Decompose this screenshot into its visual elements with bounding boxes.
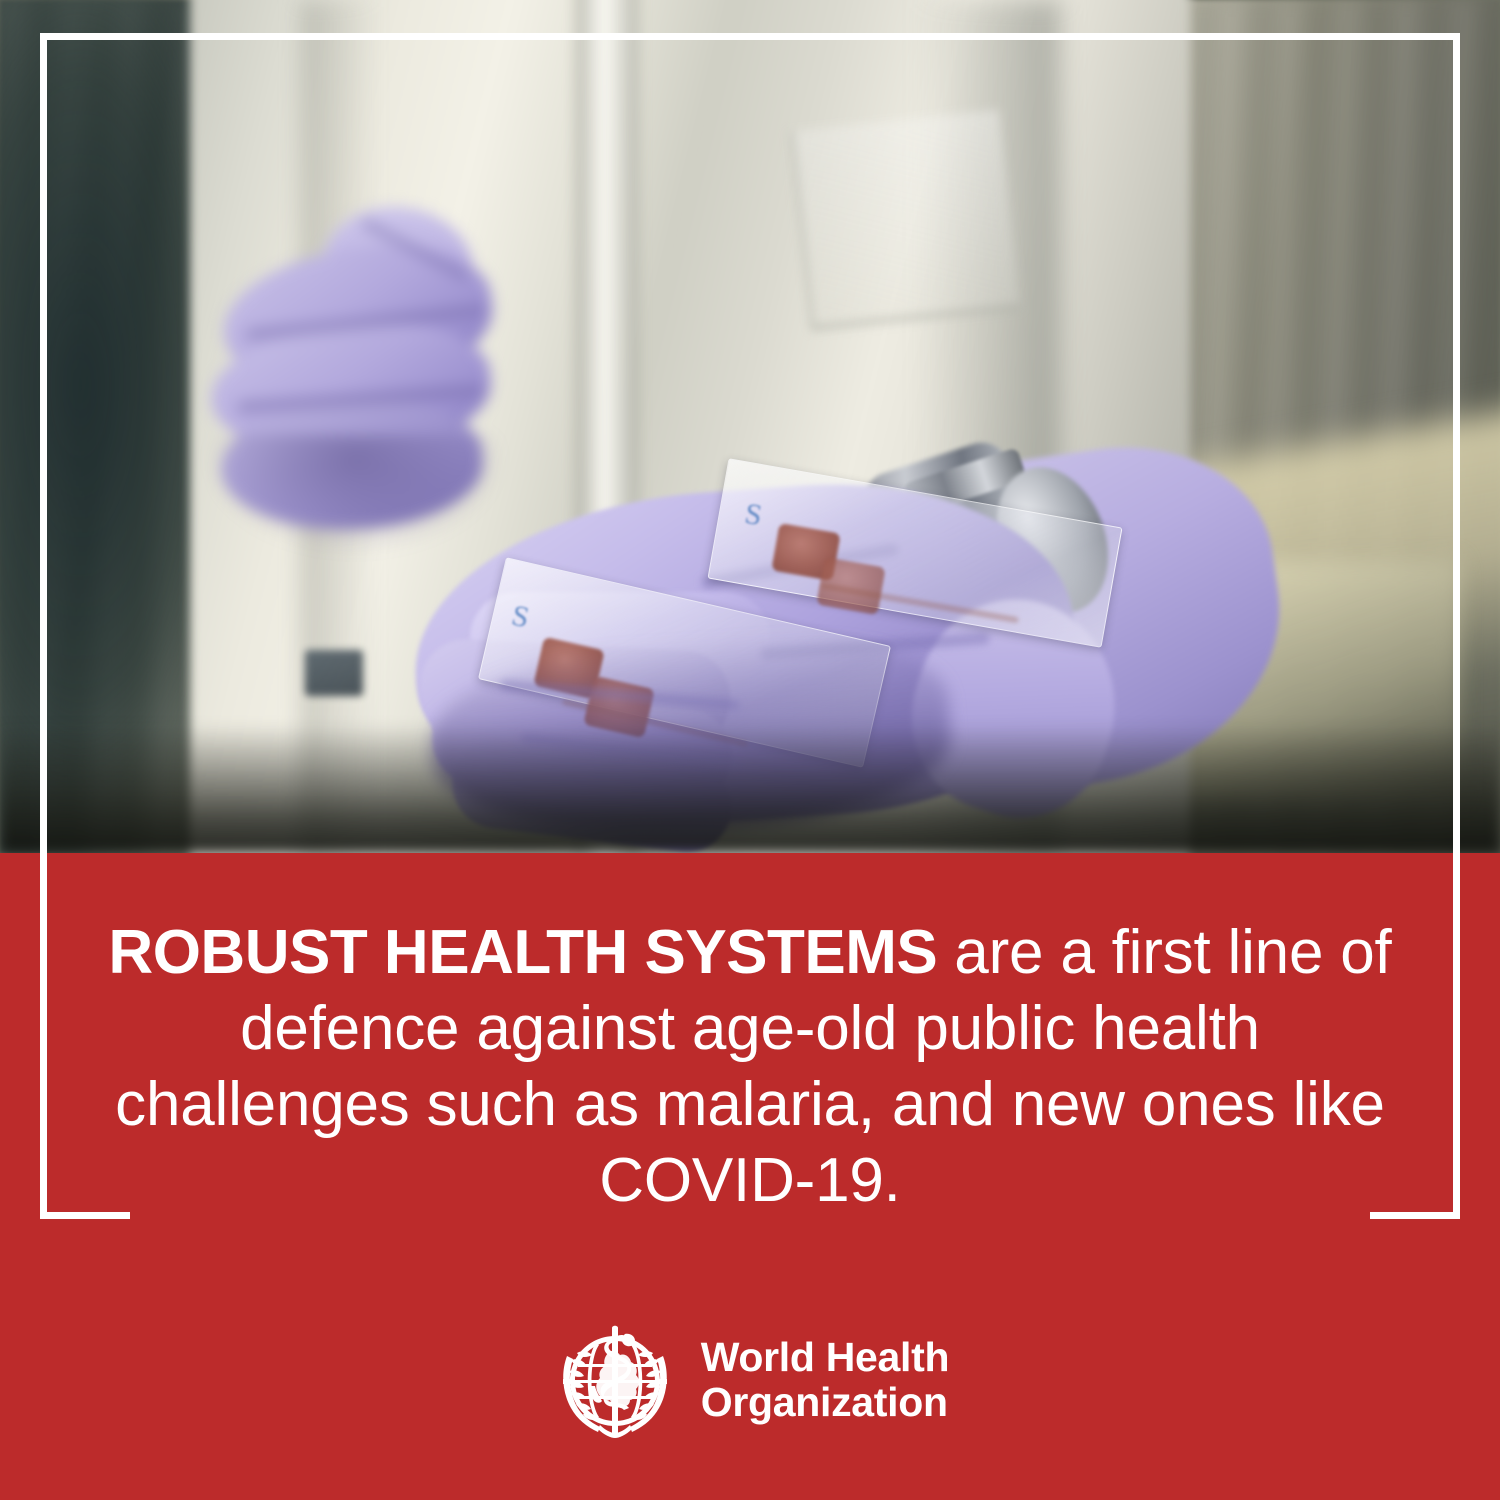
who-social-card: S S ROBUST HEALTH SYSTEMS are a first li… [0,0,1500,1500]
gloved-fist [205,205,525,550]
lab-coat-badge [305,650,363,696]
lab-coat-pocket [790,110,1020,331]
who-wordmark: World Health Organization [701,1335,950,1425]
who-emblem-icon [551,1316,679,1444]
photo-bottom-vignette [0,723,1500,853]
fist-shadow [205,435,505,555]
hero-photo: S S [0,0,1500,853]
headline: ROBUST HEALTH SYSTEMS are a first line o… [90,915,1410,1219]
who-wordmark-line2: Organization [701,1380,950,1425]
who-wordmark-line1: World Health [701,1335,950,1380]
who-logo: World Health Organization [0,1316,1500,1444]
headline-lead: ROBUST HEALTH SYSTEMS [108,918,937,987]
